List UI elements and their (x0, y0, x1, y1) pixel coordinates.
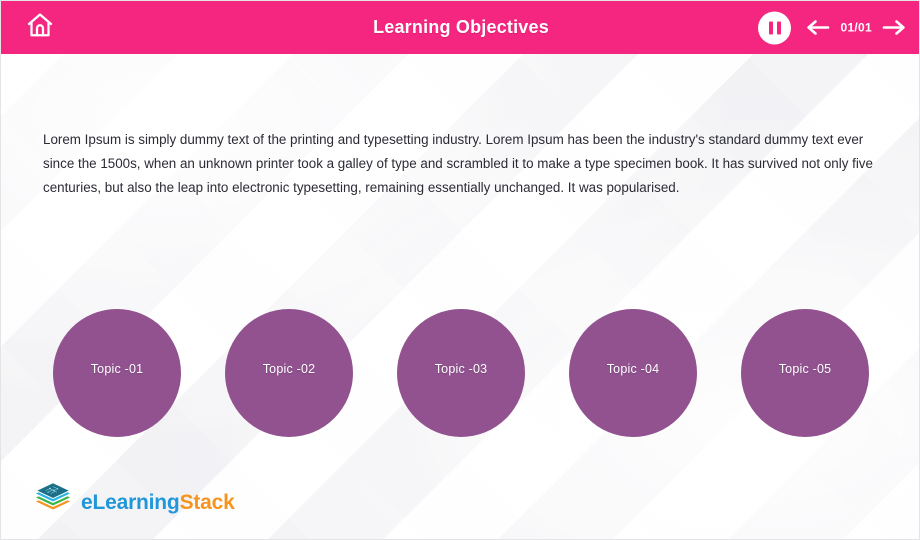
logo-text-primary: eLearning (81, 491, 180, 514)
topic-label: Topic -01 (91, 362, 144, 376)
topic-circle-1[interactable]: Topic -01 (53, 309, 181, 437)
topic-label: Topic -05 (779, 362, 832, 376)
logo-text: eLearningStack (81, 491, 235, 515)
topic-circle-2[interactable]: Topic -02 (225, 309, 353, 437)
topic-label: Topic -03 (435, 362, 488, 376)
previous-button[interactable] (805, 18, 831, 38)
arrow-right-icon (881, 18, 907, 38)
arrow-left-icon (805, 18, 831, 38)
pause-button[interactable] (758, 11, 791, 44)
slide-canvas: Learning Objectives 01/01 (0, 0, 920, 540)
topic-label: Topic -02 (263, 362, 316, 376)
content-paragraph: Lorem Ipsum is simply dummy text of the … (43, 128, 877, 200)
next-button[interactable] (881, 18, 907, 38)
page-counter: 01/01 (840, 21, 872, 35)
topic-circle-4[interactable]: Topic -04 (569, 309, 697, 437)
topics-row: Topic -01 Topic -02 Topic -03 Topic -04 … (53, 309, 869, 437)
logo-text-secondary: Stack (180, 491, 235, 514)
background-sheen (1, 1, 919, 539)
home-icon (25, 10, 55, 45)
pause-icon (769, 21, 781, 34)
brand-logo: eLearningStack (33, 482, 235, 523)
home-button[interactable] (23, 11, 57, 45)
stacked-layers-icon (33, 482, 73, 523)
topic-circle-3[interactable]: Topic -03 (397, 309, 525, 437)
navigation-controls: 01/01 (805, 18, 907, 38)
topic-label: Topic -04 (607, 362, 660, 376)
topic-circle-5[interactable]: Topic -05 (741, 309, 869, 437)
header-controls: 01/01 (758, 11, 907, 44)
top-header-bar: Learning Objectives 01/01 (1, 1, 920, 54)
